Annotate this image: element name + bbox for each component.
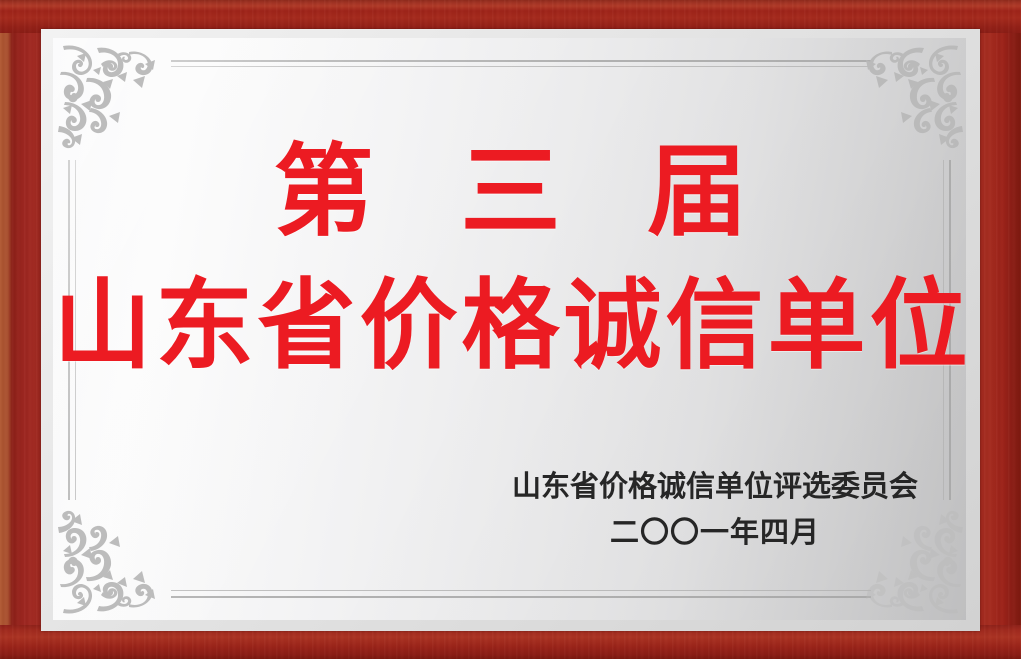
certificate-content: 第 三 届 山东省价格诚信单位 山东省价格诚信单位评选委员会 二〇〇一年四月 — [0, 0, 1021, 659]
signature-organization: 山东省价格诚信单位评选委员会 — [505, 466, 925, 506]
certificate-title-line-2: 山东省价格诚信单位 — [0, 274, 1021, 378]
signature-block: 山东省价格诚信单位评选委员会 二〇〇一年四月 — [505, 466, 925, 552]
signature-date: 二〇〇一年四月 — [505, 512, 925, 552]
certificate-title-line-1: 第 三 届 — [0, 138, 1021, 244]
award-plaque: 第 三 届 山东省价格诚信单位 山东省价格诚信单位评选委员会 二〇〇一年四月 — [0, 0, 1021, 659]
